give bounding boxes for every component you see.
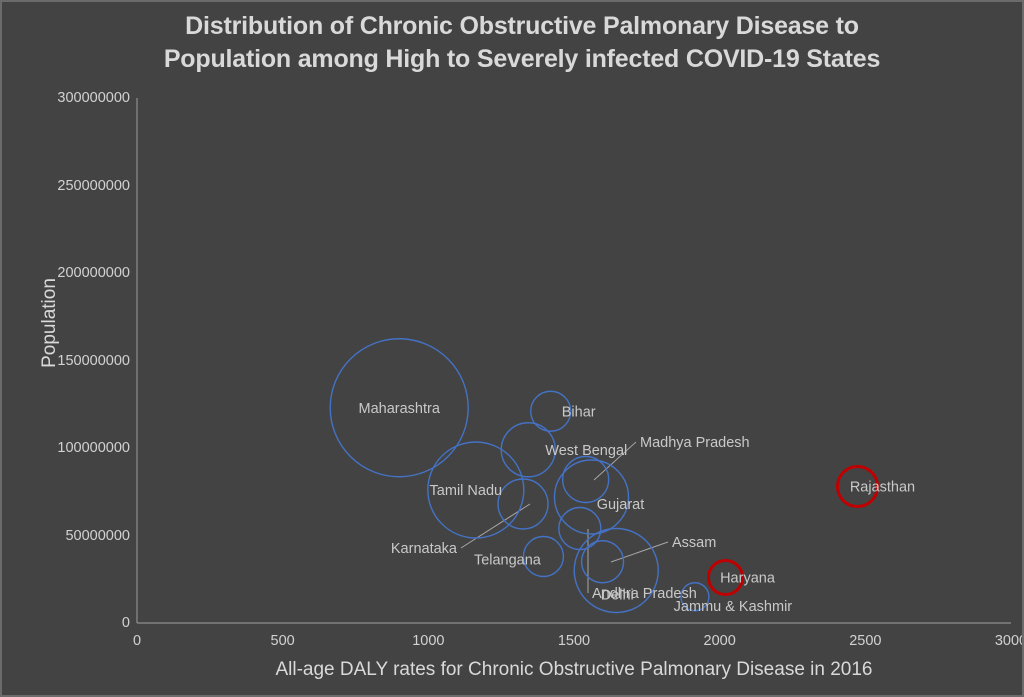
bubble-label-assam: Assam xyxy=(672,535,716,551)
bubble-chart-figure: Distribution of Chronic Obstructive Palm… xyxy=(0,0,1024,697)
bubble-label-tamil-nadu: Tamil Nadu xyxy=(430,483,503,499)
bubbles-group xyxy=(330,339,877,613)
bubble-labels-group: MaharashtraBiharWest BengalMadhya Prades… xyxy=(358,401,915,615)
bubble-label-delhi: Delhi xyxy=(601,588,634,604)
plot-area: MaharashtraBiharWest BengalMadhya Prades… xyxy=(2,2,1024,697)
bubble-label-maharashtra: Maharashtra xyxy=(358,401,440,417)
leader-lines-group xyxy=(461,442,668,593)
bubble-label-rajasthan: Rajasthan xyxy=(850,480,915,496)
leader-line-assam xyxy=(611,542,668,562)
bubble-label-madhya-pradesh: Madhya Pradesh xyxy=(640,435,750,451)
bubble-label-karnataka: Karnataka xyxy=(391,541,458,557)
bubble-label-haryana: Haryana xyxy=(720,571,776,587)
bubble-label-west-bengal: West Bengal xyxy=(545,443,627,459)
bubble-andhra-pradesh[interactable] xyxy=(559,508,601,550)
bubble-label-jammu-kashmir: Jammu & Kashmir xyxy=(674,599,793,615)
bubble-label-gujarat: Gujarat xyxy=(597,497,645,513)
axis-lines xyxy=(137,98,1011,623)
bubble-label-bihar: Bihar xyxy=(562,404,596,420)
bubble-label-telangana: Telangana xyxy=(474,553,542,569)
bubble-madhya-pradesh[interactable] xyxy=(563,457,609,503)
